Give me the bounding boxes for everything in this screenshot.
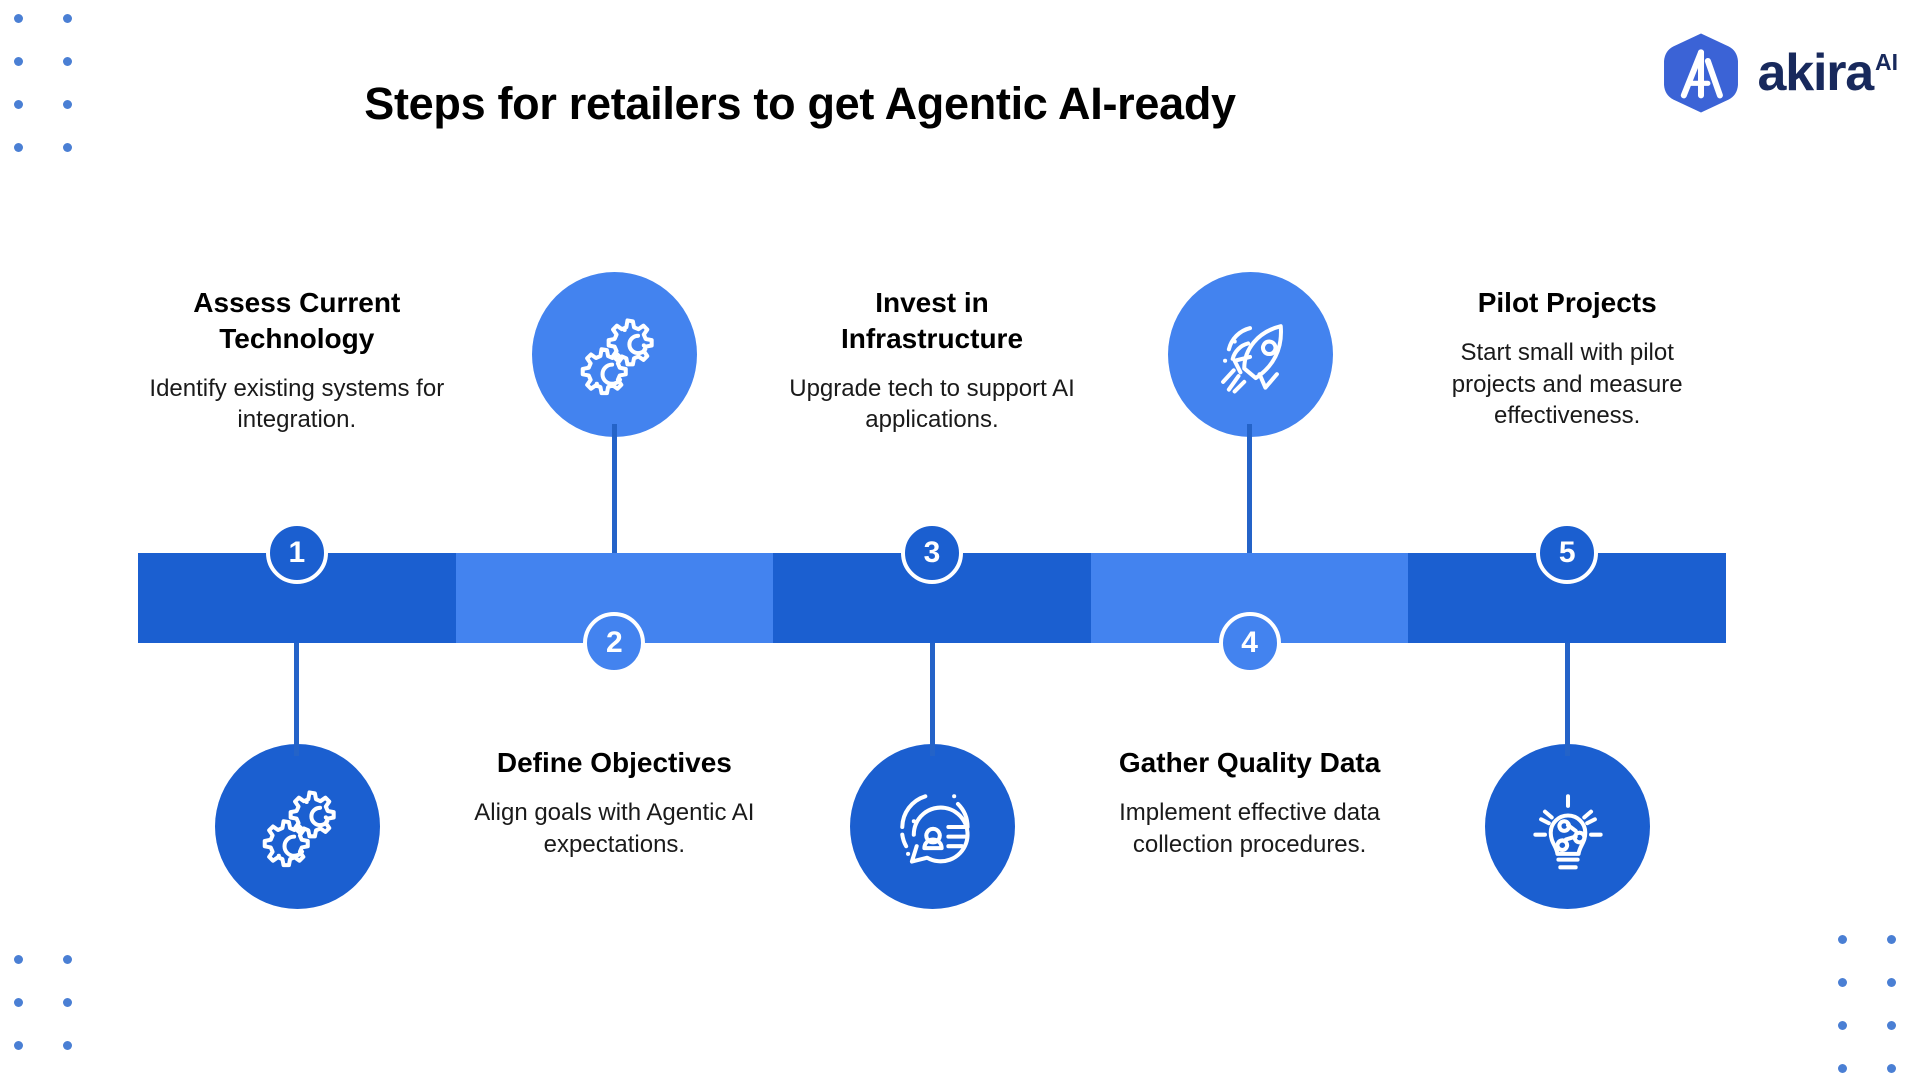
step-title: Invest in Infrastructure <box>782 285 1082 357</box>
decorative-dot <box>1838 978 1847 987</box>
step-number-label: 1 <box>288 536 305 570</box>
step-marker-4[interactable]: 4 <box>1219 612 1281 674</box>
step-marker-3[interactable]: 3 <box>901 522 963 584</box>
decorative-dot <box>1838 1021 1847 1030</box>
step-text-5: Pilot ProjectsStart small with pilot pro… <box>1417 285 1717 432</box>
decorative-dot <box>14 14 23 23</box>
step-number-label: 5 <box>1559 536 1576 570</box>
decorative-dot <box>1887 935 1896 944</box>
logo-text: akira <box>1758 47 1873 99</box>
profile-chat-icon <box>885 779 981 875</box>
akira-hexagon-a-icon <box>1658 30 1744 116</box>
step-marker-5[interactable]: 5 <box>1536 522 1598 584</box>
rocket-icon <box>1202 307 1298 403</box>
decorative-dot <box>14 1041 23 1050</box>
decorative-dot <box>63 998 72 1007</box>
decorative-dot <box>14 57 23 66</box>
step-number-label: 2 <box>606 626 623 660</box>
connector-stem-2 <box>612 424 617 553</box>
step-icon-circle-5[interactable] <box>1485 744 1650 909</box>
decorative-dot <box>14 955 23 964</box>
step-marker-2[interactable]: 2 <box>583 612 645 674</box>
decorative-dot <box>63 143 72 152</box>
step-description: Identify existing systems for integratio… <box>147 373 447 436</box>
step-number-label: 3 <box>924 536 941 570</box>
step-description: Align goals with Agentic AI expectations… <box>464 797 764 860</box>
infographic-canvas: Steps for retailers to get Agentic AI-re… <box>0 0 1920 1080</box>
decorative-dot <box>14 143 23 152</box>
lightbulb-network-icon <box>1520 779 1616 875</box>
step-icon-circle-4[interactable] <box>1168 272 1333 437</box>
step-title: Assess Current Technology <box>147 285 447 357</box>
decorative-dot-grid-bottom-right <box>1838 935 1896 1073</box>
page-title: Steps for retailers to get Agentic AI-re… <box>0 78 1600 130</box>
decorative-dot <box>63 57 72 66</box>
step-icon-circle-3[interactable] <box>850 744 1015 909</box>
connector-stem-1 <box>294 643 299 756</box>
step-description: Upgrade tech to support AI applications. <box>782 373 1082 436</box>
connector-stem-5 <box>1565 643 1570 756</box>
gears-icon <box>567 307 663 403</box>
step-number-label: 4 <box>1241 626 1258 660</box>
step-text-3: Invest in InfrastructureUpgrade tech to … <box>782 285 1082 436</box>
decorative-dot <box>1887 1064 1896 1073</box>
decorative-dot <box>1838 1064 1847 1073</box>
decorative-dot-grid-bottom-left <box>14 955 72 1080</box>
step-title: Pilot Projects <box>1417 285 1717 321</box>
decorative-dot <box>63 1041 72 1050</box>
step-title: Gather Quality Data <box>1100 745 1400 781</box>
logo-wordmark: akira AI <box>1758 47 1898 99</box>
connector-stem-4 <box>1247 424 1252 553</box>
decorative-dot <box>1838 935 1847 944</box>
decorative-dot <box>1887 1021 1896 1030</box>
gears-icon <box>249 779 345 875</box>
step-description: Implement effective data collection proc… <box>1100 797 1400 860</box>
step-marker-1[interactable]: 1 <box>266 522 328 584</box>
step-icon-circle-2[interactable] <box>532 272 697 437</box>
connector-stem-3 <box>930 643 935 756</box>
step-description: Start small with pilot projects and meas… <box>1417 337 1717 432</box>
logo-superscript: AI <box>1875 51 1898 74</box>
step-icon-circle-1[interactable] <box>215 744 380 909</box>
decorative-dot <box>14 998 23 1007</box>
decorative-dot <box>1887 978 1896 987</box>
step-text-4: Gather Quality DataImplement effective d… <box>1100 745 1400 860</box>
step-title: Define Objectives <box>464 745 764 781</box>
decorative-dot <box>63 955 72 964</box>
akira-ai-logo: akira AI <box>1658 30 1898 116</box>
decorative-dot <box>63 14 72 23</box>
step-text-1: Assess Current TechnologyIdentify existi… <box>147 285 447 436</box>
step-text-2: Define ObjectivesAlign goals with Agenti… <box>464 745 764 860</box>
